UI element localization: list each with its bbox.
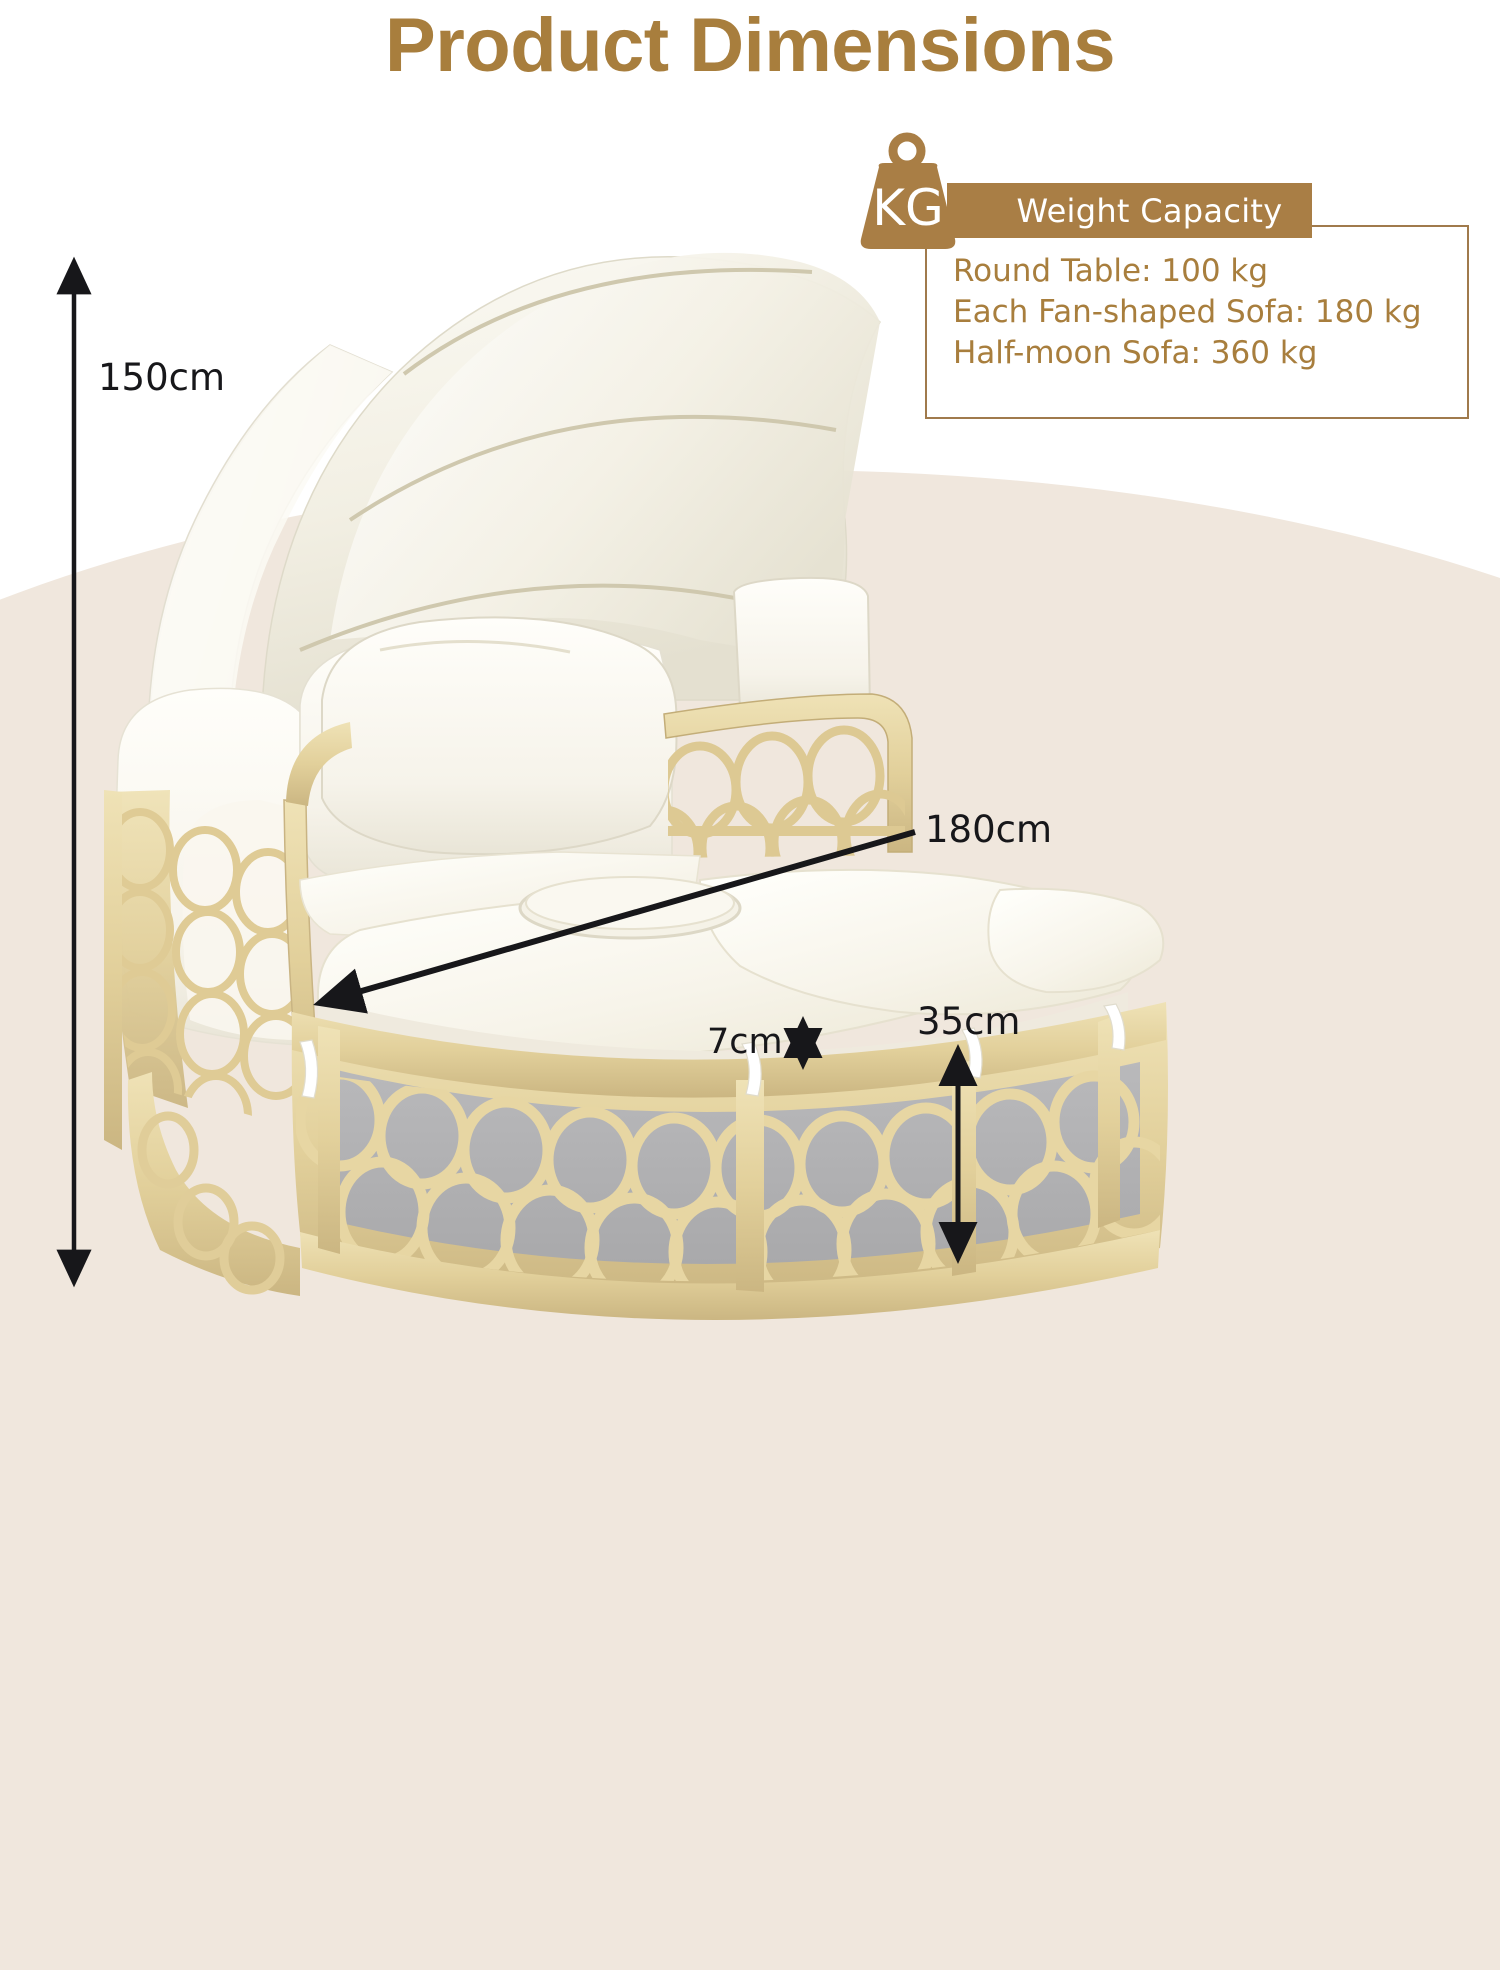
kg-icon-text: KG: [872, 179, 944, 237]
weight-capacity-list: Round Table: 100 kg Each Fan-shaped Sofa…: [953, 251, 1473, 375]
weight-capacity-banner: Weight Capacity: [947, 183, 1312, 238]
label-diameter: 180cm: [925, 808, 1052, 851]
kg-weight-icon: KG: [855, 133, 960, 253]
label-seat-height: 35cm: [917, 1000, 1020, 1043]
weight-capacity-card: KG Weight Capacity Round Table: 100 kg E…: [855, 133, 1475, 413]
weight-capacity-item-round-table: Round Table: 100 kg: [953, 251, 1473, 292]
arrow-diameter-180cm: [320, 832, 915, 1003]
weight-capacity-item-fan-sofa: Each Fan-shaped Sofa: 180 kg: [953, 292, 1473, 333]
label-height: 150cm: [98, 356, 225, 399]
weight-capacity-item-halfmoon-sofa: Half-moon Sofa: 360 kg: [953, 333, 1473, 374]
weight-capacity-banner-label: Weight Capacity: [977, 192, 1283, 230]
infographic-canvas: Product Dimensions: [0, 0, 1500, 1418]
label-cushion-thickness: 7cm: [707, 1022, 783, 1062]
